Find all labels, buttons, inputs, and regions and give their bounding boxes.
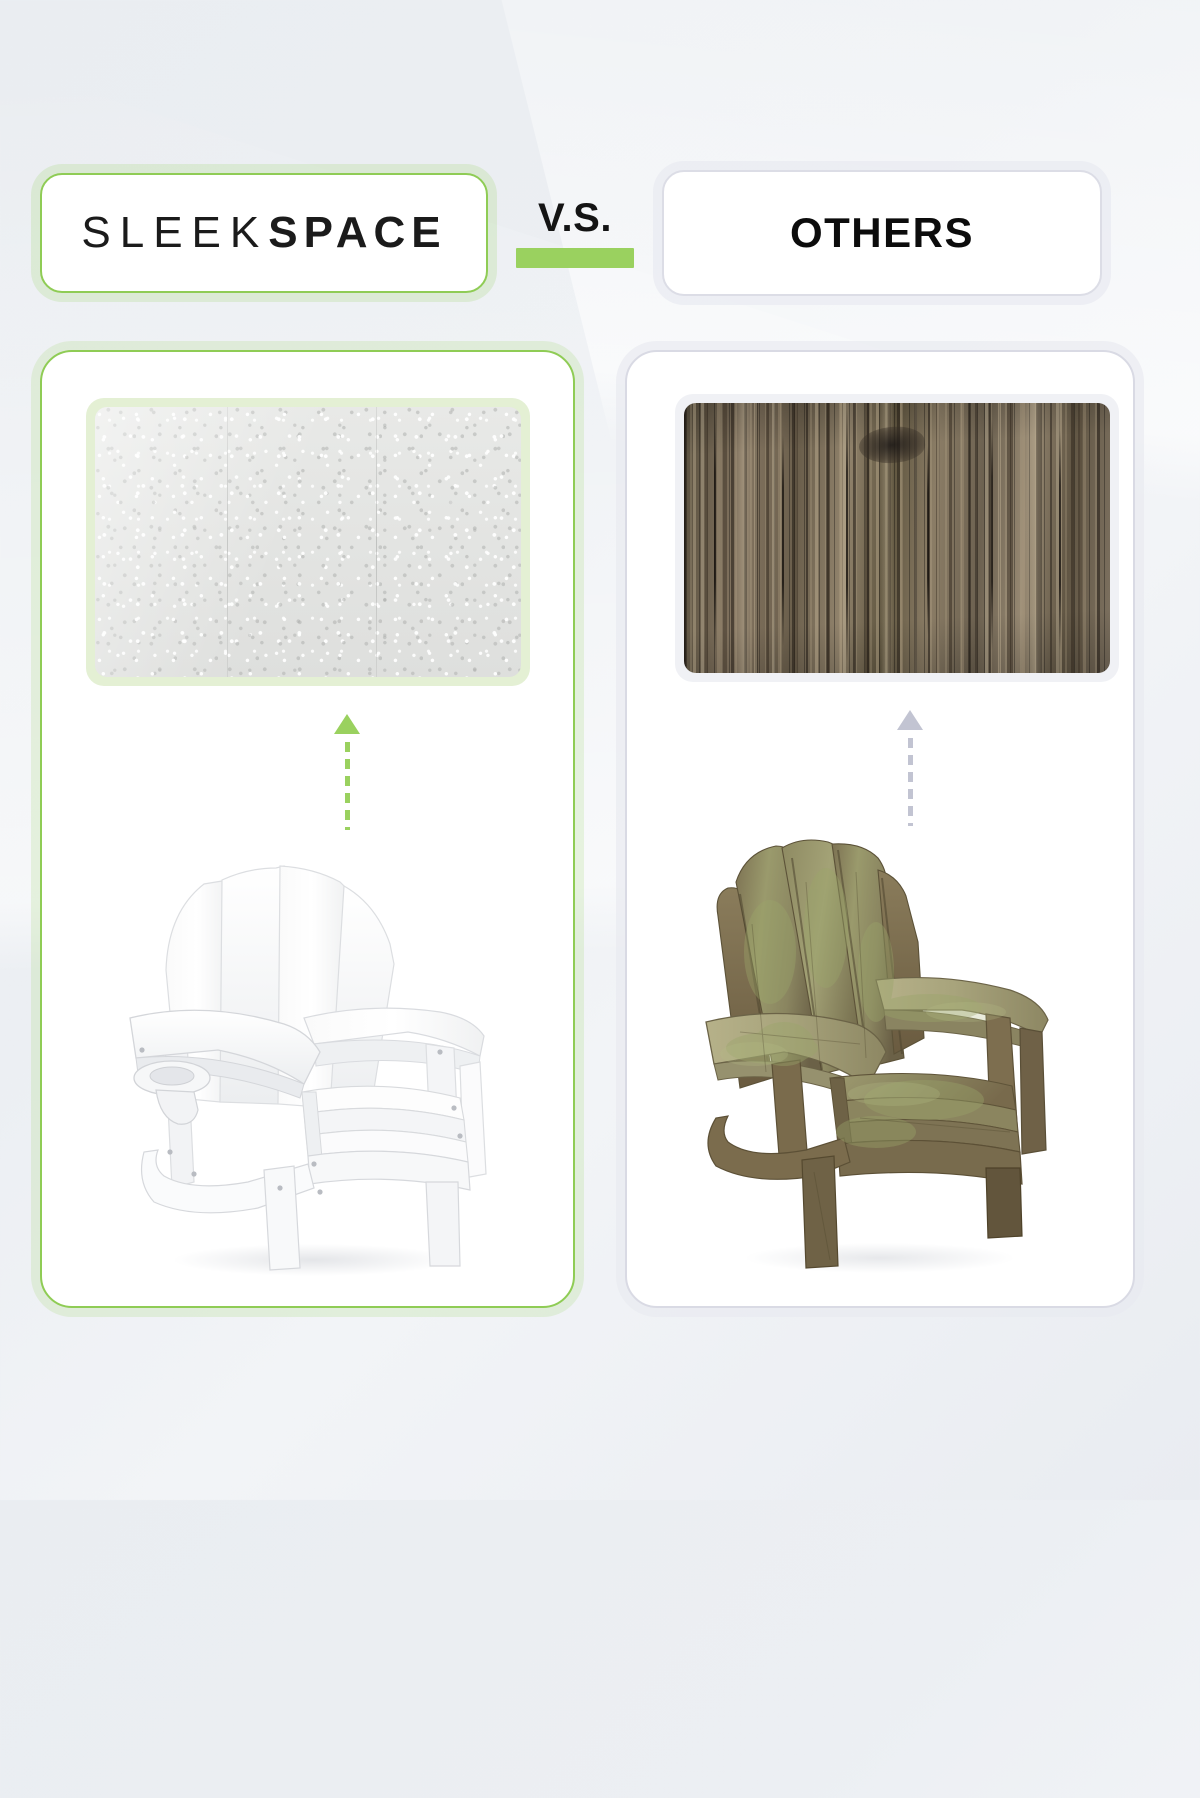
wood-crack <box>782 435 784 646</box>
brand-name-bold: SPACE <box>268 208 446 257</box>
comparison-header: SLEEKSPACE V.S. OTHERS <box>40 165 1160 300</box>
brand-name-light: SLEEK <box>81 208 268 257</box>
weathered-wood-adirondack-chair-illustration <box>680 832 1080 1282</box>
wood-crack <box>846 408 848 662</box>
comparison-card-sleekspace <box>40 350 575 1308</box>
product-image-sleekspace <box>42 812 573 1282</box>
weathered-wood-swatch <box>684 403 1110 673</box>
wood-crack <box>991 419 993 651</box>
versus-underline <box>516 248 634 268</box>
others-label-box: OTHERS <box>662 170 1102 296</box>
swatch-sheen <box>95 407 521 677</box>
arrow-up-icon <box>897 710 923 730</box>
poly-lumber-swatch <box>95 407 521 677</box>
brand-logo-box: SLEEKSPACE <box>40 173 488 293</box>
weathered-wood-swatch-frame <box>675 394 1119 682</box>
wood-crack <box>927 446 929 635</box>
brand-logo: SLEEKSPACE <box>81 211 446 255</box>
others-label: OTHERS <box>790 209 974 257</box>
infographic-stage: SLEEKSPACE V.S. OTHERS <box>0 0 1200 1500</box>
wood-light-grain <box>735 403 753 673</box>
product-image-others <box>627 812 1133 1282</box>
poly-lumber-swatch-frame <box>86 398 530 686</box>
wood-crack <box>1059 430 1061 651</box>
wood-light-grain <box>1025 403 1045 673</box>
white-adirondack-chair-illustration <box>108 852 508 1282</box>
material-connector-bad <box>890 710 930 826</box>
versus-label: V.S. <box>538 198 612 238</box>
wood-knot <box>857 424 926 467</box>
wood-crack <box>714 414 716 652</box>
arrow-up-icon <box>334 714 360 734</box>
comparison-card-others <box>625 350 1135 1308</box>
versus-block: V.S. <box>488 173 662 293</box>
